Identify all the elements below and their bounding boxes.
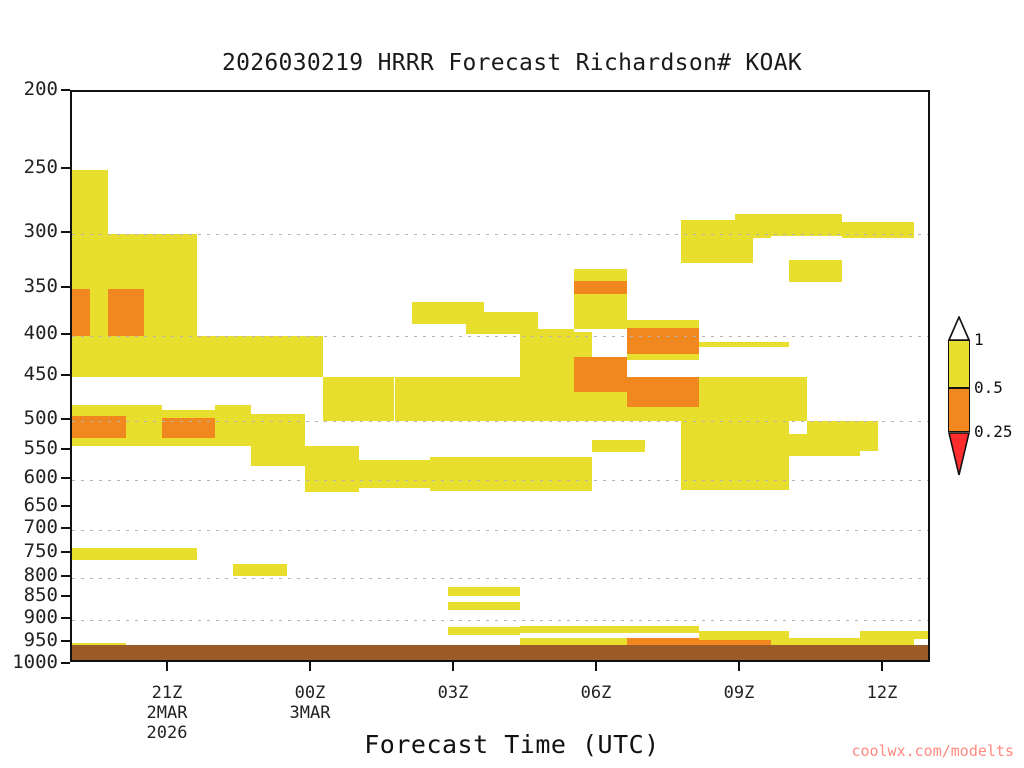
x-tick-time: 06Z	[581, 683, 612, 703]
colorbar-label: 0.5	[974, 380, 1003, 396]
page-title: 2026030219 HRRR Forecast Richardson# KOA…	[0, 50, 1024, 76]
heatmap-cell	[269, 336, 323, 377]
heatmap-cell	[627, 377, 699, 407]
y-axis-tick	[61, 333, 70, 335]
x-tick-date: 2MAR	[147, 703, 188, 723]
heatmap-cell	[162, 438, 216, 446]
watermark: coolwx.com/modelts	[0, 742, 1014, 760]
heatmap-cell	[735, 214, 843, 236]
y-axis-label: 750	[0, 542, 58, 561]
x-tick-time: 03Z	[438, 683, 469, 703]
x-axis-label: 12Z	[822, 683, 942, 703]
y-axis-tick	[61, 617, 70, 619]
heatmap-cell	[162, 410, 216, 418]
y-axis-label: 700	[0, 518, 58, 537]
y-axis-label: 650	[0, 496, 58, 515]
terrain-band	[72, 645, 928, 660]
heatmap-cell	[699, 342, 789, 347]
colorbar: 10.50.25	[948, 316, 970, 474]
heatmap-cell	[466, 377, 538, 421]
x-axis-tick	[595, 662, 597, 671]
y-axis-label: 400	[0, 324, 58, 343]
y-axis-tick	[61, 505, 70, 507]
heatmap-cell	[233, 564, 287, 576]
x-tick-time: 21Z	[152, 683, 183, 703]
y-axis-tick	[61, 231, 70, 233]
heatmap-cell	[448, 602, 520, 610]
y-axis-label: 500	[0, 409, 58, 428]
x-tick-date: 3MAR	[290, 703, 331, 723]
y-axis-label: 950	[0, 631, 58, 650]
y-axis-tick	[61, 551, 70, 553]
heatmap-cell	[789, 260, 843, 282]
heatmap-cell	[359, 460, 431, 488]
heatmap-cell	[72, 234, 197, 289]
heatmap-cell	[699, 631, 789, 640]
heatmap-cell	[681, 238, 753, 263]
heatmap-cell	[592, 440, 646, 452]
heatmap-cell	[520, 626, 699, 633]
y-axis-label: 350	[0, 277, 58, 296]
heatmap-cell	[72, 405, 126, 416]
heatmap-cell	[681, 472, 789, 490]
x-axis-label: 03Z	[393, 683, 513, 703]
colorbar-under-arrow	[948, 432, 970, 476]
y-axis-tick	[61, 89, 70, 91]
heatmap-cell	[72, 289, 90, 336]
heatmap-cell	[430, 457, 591, 469]
heatmap-cell	[72, 438, 126, 446]
heatmap-cell	[144, 336, 198, 377]
heatmap-cell	[305, 446, 359, 474]
y-axis-label: 550	[0, 439, 58, 458]
y-axis-tick	[61, 374, 70, 376]
heatmap-cell	[144, 289, 198, 336]
heatmap-cell	[448, 587, 520, 596]
heatmap-cell	[574, 269, 628, 281]
y-axis-tick	[61, 418, 70, 420]
colorbar-over-arrow-outline	[948, 316, 970, 340]
heatmap-cell	[574, 281, 628, 294]
x-tick-time: 09Z	[724, 683, 755, 703]
heatmap-cell	[502, 469, 592, 491]
y-axis-tick	[61, 448, 70, 450]
x-axis-label: 00Z3MAR	[250, 683, 370, 723]
y-axis-label: 450	[0, 365, 58, 384]
x-axis-label: 06Z	[536, 683, 656, 703]
x-tick-year: 2026	[147, 723, 188, 743]
y-axis-tick	[61, 286, 70, 288]
y-axis-label: 900	[0, 608, 58, 627]
x-axis-tick	[166, 662, 168, 671]
heatmap-cell	[251, 414, 305, 446]
colorbar-label: 1	[974, 332, 984, 348]
x-axis-label: 21Z2MAR2026	[107, 683, 227, 743]
x-tick-time: 00Z	[295, 683, 326, 703]
colorbar-label: 0.25	[974, 424, 1013, 440]
y-axis-label: 200	[0, 80, 58, 99]
heatmap-cell	[90, 289, 108, 336]
x-axis-tick	[881, 662, 883, 671]
heatmap-cell	[681, 417, 789, 472]
heatmap-cell	[162, 418, 216, 438]
heatmap-cell	[574, 357, 628, 392]
heatmap-cell	[108, 289, 144, 336]
heatmap-cells	[72, 92, 928, 660]
heatmap-cell	[72, 336, 144, 377]
y-axis-tick	[61, 167, 70, 169]
heatmap-cell	[574, 294, 628, 329]
heatmap-cell	[789, 434, 861, 456]
chart-canvas: 2026030219 HRRR Forecast Richardson# KOA…	[0, 0, 1024, 768]
x-axis-tick	[452, 662, 454, 671]
x-axis-tick	[309, 662, 311, 671]
y-axis-label: 300	[0, 222, 58, 241]
y-axis-tick	[61, 640, 70, 642]
y-axis-tick	[61, 595, 70, 597]
heatmap-cell	[860, 631, 930, 639]
x-tick-time: 12Z	[867, 683, 898, 703]
heatmap-cell	[627, 354, 699, 360]
heatmap-cell	[305, 474, 359, 492]
heatmap-cell	[699, 377, 807, 421]
x-axis-label: 09Z	[679, 683, 799, 703]
y-axis-tick	[61, 527, 70, 529]
heatmap-cell	[538, 329, 574, 364]
y-axis-label: 800	[0, 566, 58, 585]
heatmap-cell	[466, 312, 538, 334]
y-axis-tick	[61, 575, 70, 577]
x-axis-tick	[738, 662, 740, 671]
colorbar-segment	[948, 340, 970, 388]
heatmap-cell	[251, 446, 305, 466]
heatmap-cell	[72, 170, 108, 234]
y-axis-label: 250	[0, 158, 58, 177]
heatmap-cell	[215, 405, 251, 446]
heatmap-cell	[574, 392, 628, 420]
heatmap-cell	[72, 548, 197, 560]
heatmap-cell	[430, 469, 502, 491]
heatmap-cell	[323, 377, 395, 421]
y-axis-label: 1000	[0, 653, 58, 672]
heatmap-cell	[126, 405, 162, 446]
y-axis-tick	[61, 477, 70, 479]
heatmap-cell	[197, 336, 269, 377]
y-axis-label: 850	[0, 586, 58, 605]
y-axis-tick	[61, 662, 70, 664]
heatmap-cell	[842, 222, 914, 238]
y-axis-label: 600	[0, 468, 58, 487]
heatmap-cell	[72, 416, 126, 438]
heatmap-cell	[627, 328, 699, 354]
plot-area	[70, 90, 930, 662]
heatmap-cell	[395, 377, 467, 421]
heatmap-cell	[448, 627, 520, 635]
heatmap-cell	[520, 638, 628, 645]
colorbar-segment	[948, 388, 970, 432]
heatmap-cell	[627, 320, 699, 328]
